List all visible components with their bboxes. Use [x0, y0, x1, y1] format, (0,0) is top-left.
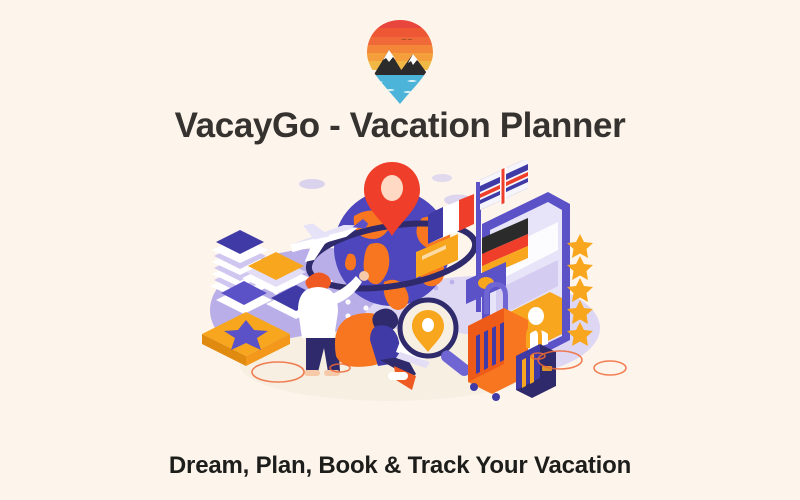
app-splash-screen: VacayGo - Vacation Planner [0, 0, 800, 500]
flag-uk [480, 160, 528, 210]
tagline: Dream, Plan, Book & Track Your Vacation [0, 450, 800, 482]
vacation-planning-isometric-illustration [180, 160, 630, 410]
logo-container [0, 18, 800, 106]
map-pin-sunset-logo [363, 18, 437, 106]
page-title: VacayGo - Vacation Planner [0, 104, 800, 148]
